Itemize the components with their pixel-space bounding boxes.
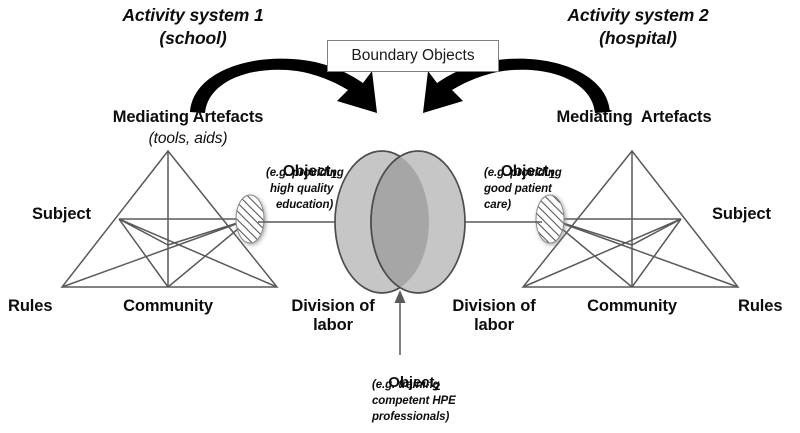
left-object1-note-line1: (e.g. providing <box>266 167 344 180</box>
right-object1-note-line3: care) <box>484 199 511 212</box>
right-subject-label: Subject <box>712 205 771 224</box>
right-object1-note-line2: good patient <box>484 183 552 196</box>
object2-note-line1: (e.g. training <box>372 379 440 392</box>
object2-pointer-arrow <box>395 290 406 355</box>
right-object1-note-line1: (e.g. providing <box>484 167 562 180</box>
left-mediating-artefacts-label: Mediating Artefacts <box>113 108 264 127</box>
boundary-objects-box: Boundary Objects <box>327 40 499 72</box>
right-community-label: Community <box>587 297 677 316</box>
left-subject-label: Subject <box>32 205 91 224</box>
left-object-node-marker <box>236 195 264 243</box>
left-division-of-labor-label-line2: labor <box>313 316 353 335</box>
left-rules-label: Rules <box>8 297 52 316</box>
left-object1-note-line2: high quality <box>270 183 333 196</box>
right-system-title: Activity system 2 <box>567 6 708 26</box>
right-division-of-labor-label-line1: Division of <box>452 297 535 316</box>
left-system-subtitle: (school) <box>159 29 226 49</box>
boundary-objects-label: Boundary Objects <box>351 47 474 65</box>
left-division-of-labor-label-line1: Division of <box>291 297 374 316</box>
left-object1-note-line3: education) <box>276 199 333 212</box>
right-system-subtitle: (hospital) <box>599 29 677 49</box>
object2-note-line3: professionals) <box>372 411 449 424</box>
right-mediating-artefacts-label: Mediating Artefacts <box>556 108 711 127</box>
left-community-label: Community <box>123 297 213 316</box>
left-system-title: Activity system 1 <box>122 6 263 26</box>
right-object-node-marker <box>536 195 564 243</box>
right-rules-label: Rules <box>738 297 782 316</box>
right-division-of-labor-label-line2: labor <box>474 316 514 335</box>
left-mediating-artefacts-note: (tools, aids) <box>149 130 228 148</box>
object2-note-line2: competent HPE <box>372 395 456 408</box>
diagram-canvas: Boundary Objects Activity system 1 (scho… <box>0 0 800 433</box>
boundary-object-venn <box>335 151 465 293</box>
